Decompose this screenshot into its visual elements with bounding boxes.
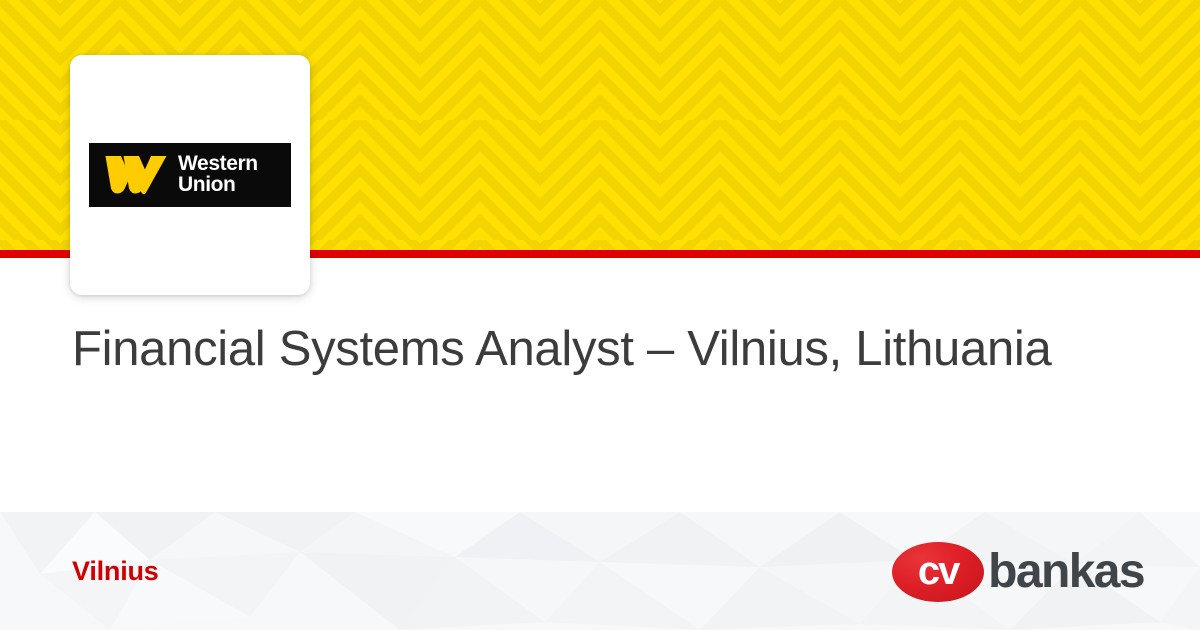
cv-badge-label: cv xyxy=(918,551,959,591)
location-label: Vilnius xyxy=(72,556,159,587)
western-union-logo: Western Union xyxy=(89,143,291,207)
cvbankas-logo: cv bankas xyxy=(892,542,1144,602)
page-title: Financial Systems Analyst – Vilnius, Lit… xyxy=(72,318,1112,380)
cv-badge-icon: cv xyxy=(892,542,984,602)
brand-wordmark: bankas xyxy=(988,548,1144,596)
wordmark-line-2: Union xyxy=(178,175,258,196)
wordmark-line-1: Western xyxy=(178,154,258,175)
title-area: Financial Systems Analyst – Vilnius, Lit… xyxy=(72,318,1112,380)
job-posting-share-card: Western Union Financial Systems Analyst … xyxy=(0,0,1200,630)
company-logo-card: Western Union xyxy=(70,55,310,295)
western-union-wordmark: Western Union xyxy=(178,154,258,195)
western-union-w-mark-icon xyxy=(105,154,167,196)
